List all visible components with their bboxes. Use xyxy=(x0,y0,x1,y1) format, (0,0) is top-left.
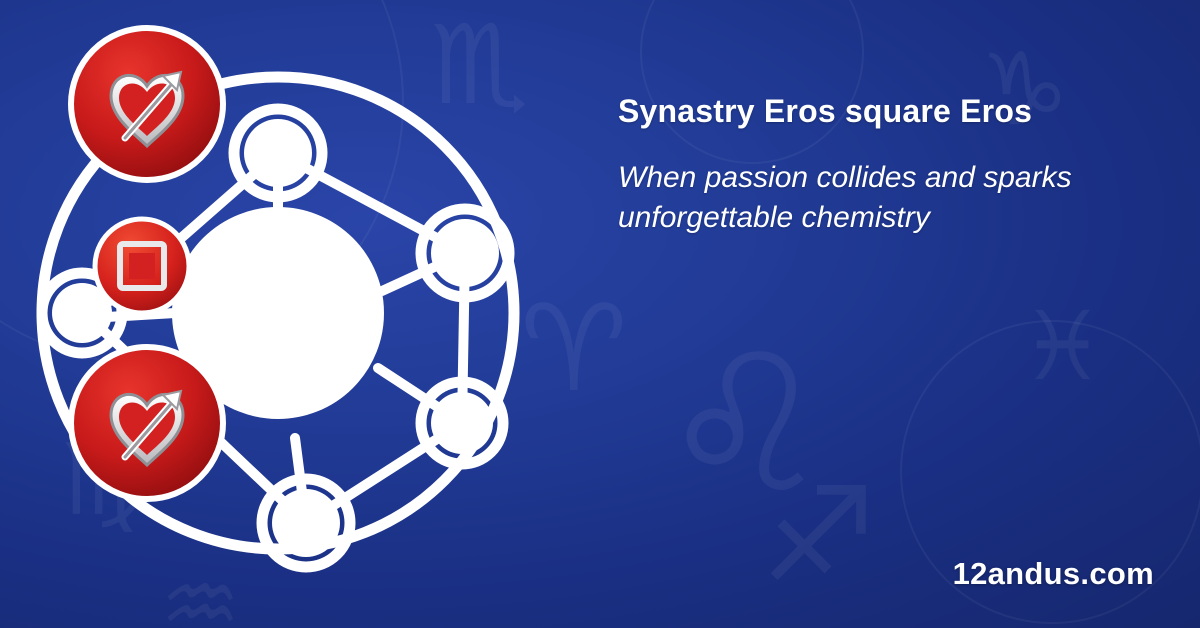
brand-wordmark: 12andus.com xyxy=(953,556,1154,592)
watermark-zodiac-leo: ♌ xyxy=(660,330,830,520)
node-bottom xyxy=(272,489,340,557)
promo-banner: ♌ ♈ ♓ ♏ ♒ ♑ ♐ ♍ xyxy=(0,0,1200,628)
page-title: Synastry Eros square Eros xyxy=(618,92,1178,130)
badge-eros-bottom xyxy=(71,347,223,499)
node-right-lower xyxy=(431,392,493,454)
node-top xyxy=(244,119,312,187)
page-subtitle: When passion collides and sparks unforge… xyxy=(618,158,1158,237)
astrology-aspect-diagram xyxy=(10,8,570,618)
badge-eros-top xyxy=(71,28,223,180)
text-block: Synastry Eros square Eros When passion c… xyxy=(618,92,1178,238)
node-right-upper xyxy=(431,219,499,287)
badge-square-aspect xyxy=(95,219,189,313)
watermark-zodiac-sagittarius: ♐ xyxy=(760,470,877,600)
